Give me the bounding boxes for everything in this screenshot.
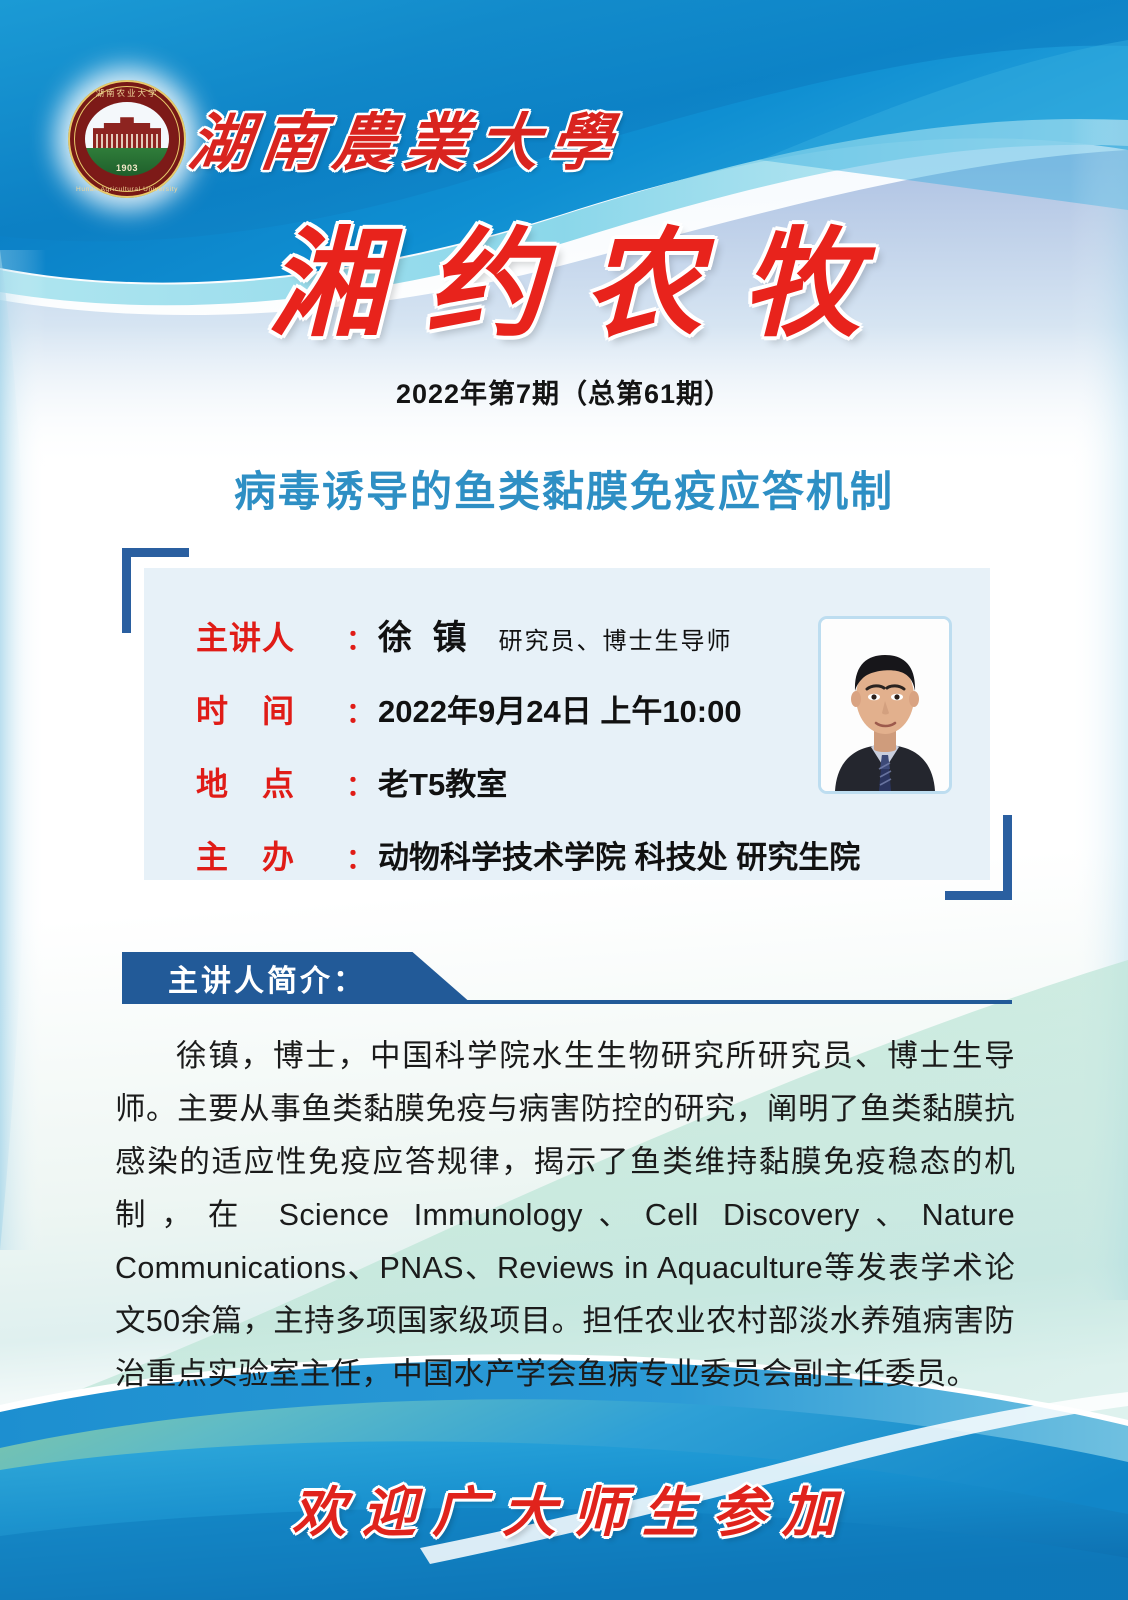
logo-building-icon bbox=[93, 116, 161, 148]
info-label-place: 地 点 bbox=[196, 759, 346, 805]
issue-number: 2022年第7期（总第61期） bbox=[0, 372, 1128, 411]
portrait-image bbox=[821, 619, 949, 791]
bio-heading-label: 主讲人简介： bbox=[168, 956, 366, 1000]
info-value-speaker: 徐 镇 bbox=[378, 610, 473, 659]
logo-year: 1903 bbox=[85, 163, 169, 173]
info-row-speaker: 主讲人 ： 徐 镇 研究员、博士生导师 bbox=[196, 610, 796, 659]
logo-emblem-icon: 1903 bbox=[85, 102, 169, 176]
info-colon-organizer: ： bbox=[346, 837, 374, 877]
info-value-time: 2022年9月24日 上午10:00 bbox=[378, 686, 742, 731]
info-colon-place: ： bbox=[346, 764, 374, 804]
info-colon-time: ： bbox=[346, 691, 374, 731]
bio-heading-banner: 主讲人简介： bbox=[122, 952, 472, 1004]
info-row-place: 地 点 ： 老T5教室 bbox=[196, 759, 796, 805]
info-value-organizer: 动物科学技术学院 科技处 研究生院 bbox=[378, 832, 860, 877]
logo-name-cn-icon: 湖南农业大学 bbox=[68, 87, 186, 99]
university-name: 湖南農業大學 bbox=[184, 92, 627, 182]
info-suffix-speaker: 研究员、博士生导师 bbox=[499, 621, 733, 656]
info-label-organizer: 主 办 bbox=[196, 832, 346, 878]
info-panel: 主讲人 ： 徐 镇 研究员、博士生导师 时 间 ： 2022年9月24日 上午1… bbox=[122, 548, 1012, 900]
poster-header: 湖南农业大学 1903 Hunan Agricultural Universit… bbox=[0, 0, 1128, 215]
university-logo: 湖南农业大学 1903 Hunan Agricultural Universit… bbox=[68, 80, 186, 198]
poster-root: 湖南农业大学 1903 Hunan Agricultural Universit… bbox=[0, 0, 1128, 1600]
footer-welcome: 欢迎广大师生参加 bbox=[0, 1468, 1128, 1547]
info-rows: 主讲人 ： 徐 镇 研究员、博士生导师 时 间 ： 2022年9月24日 上午1… bbox=[196, 610, 796, 878]
info-row-time: 时 间 ： 2022年9月24日 上午10:00 bbox=[196, 686, 796, 732]
speaker-portrait bbox=[818, 616, 952, 794]
lecture-title: 病毒诱导的鱼类黏膜免疫应答机制 bbox=[0, 458, 1128, 519]
info-row-organizer: 主 办 ： 动物科学技术学院 科技处 研究生院 bbox=[196, 832, 796, 878]
info-panel-body: 主讲人 ： 徐 镇 研究员、博士生导师 时 间 ： 2022年9月24日 上午1… bbox=[144, 568, 990, 880]
brand-title: 湘约农牧 bbox=[0, 222, 1128, 349]
info-label-speaker: 主讲人 bbox=[196, 613, 346, 659]
info-value-place: 老T5教室 bbox=[378, 759, 507, 804]
bio-heading-rule bbox=[122, 1000, 1012, 1004]
info-colon-speaker: ： bbox=[346, 618, 374, 658]
info-label-time: 时 间 bbox=[196, 686, 346, 732]
bio-paragraph: 徐镇，博士，中国科学院水生生物研究所研究员、博士生导师。主要从事鱼类黏膜免疫与病… bbox=[115, 1030, 1015, 1401]
logo-name-en: Hunan Agricultural University bbox=[68, 186, 186, 193]
